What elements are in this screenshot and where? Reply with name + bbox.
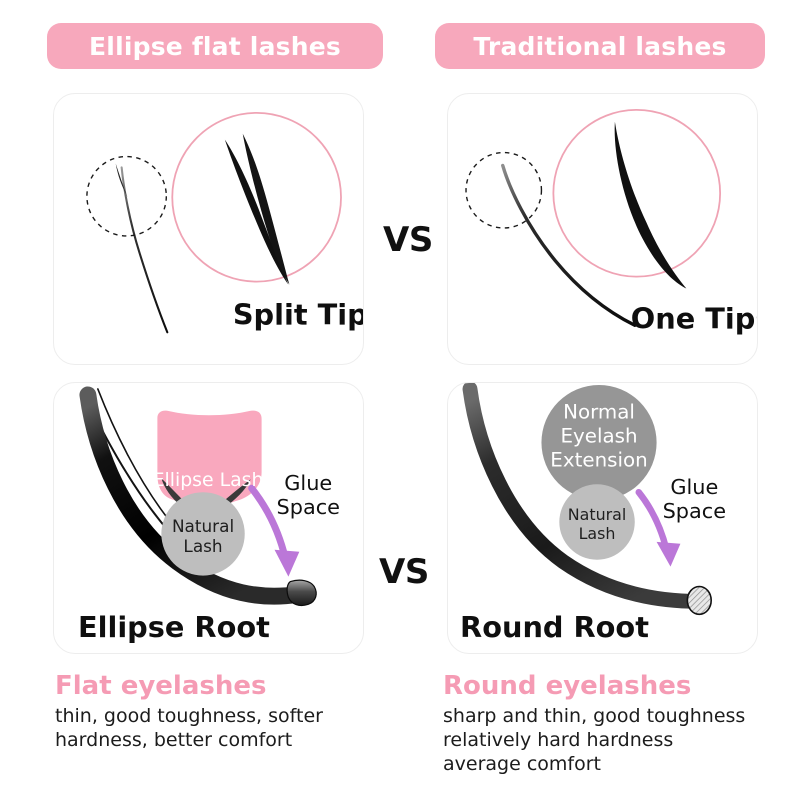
panel-one-tips: One Tips — [447, 93, 758, 365]
label-natural-lash-line2: Lash — [183, 536, 222, 556]
caption-title-round-eyelashes: Round eyelashes — [443, 672, 793, 702]
label-natural-lash-line2: Lash — [579, 524, 616, 543]
panel-round-root: Normal Eyelash Extension Natural Lash Gl… — [447, 382, 758, 654]
caption-title-flat-eyelashes: Flat eyelashes — [55, 672, 425, 702]
panel-title-split-tips: Split Tips — [233, 297, 363, 331]
dashed-circle-magnifier-icon — [466, 153, 541, 228]
single-tip-lash-small — [503, 165, 635, 325]
caption-line: average comfort — [443, 753, 793, 777]
panel-title-one-tips: One Tips — [631, 301, 757, 335]
single-tip-lash-enlarged — [615, 122, 687, 289]
label-extension-line2: Eyelash — [560, 425, 637, 448]
split-tip-lash-enlarged — [225, 134, 290, 285]
header-badge-traditional-lashes: Traditional lashes — [435, 23, 765, 69]
label-glue-space-line1: Glue — [284, 471, 332, 495]
vs-marker-bottom: VS — [379, 552, 429, 592]
caption-body-flat-eyelashes: thin, good toughness, softer hardness, b… — [55, 705, 425, 753]
panel-title-round-root: Round Root — [460, 610, 649, 644]
flat-root-cross-section-icon — [287, 580, 316, 605]
panel-ellipse-root: Ellipse Lash Natural Lash Glue Space Ell… — [53, 382, 364, 654]
pink-zoom-circle-icon — [172, 113, 341, 282]
caption-line: thin, good toughness, softer — [55, 705, 425, 729]
label-natural-lash-line1: Natural — [172, 516, 234, 536]
label-ellipse-lash: Ellipse Lash — [153, 469, 264, 491]
infographic-page: Ellipse flat lashes Traditional lashes — [0, 0, 800, 800]
caption-body-round-eyelashes: sharp and thin, good toughness relativel… — [443, 705, 793, 777]
header-badge-ellipse-flat-lashes: Ellipse flat lashes — [47, 23, 383, 69]
panel-split-tips: Split Tips — [53, 93, 364, 365]
label-extension-line1: Normal — [563, 401, 635, 424]
round-root-cross-section-icon — [687, 586, 711, 614]
caption-line: sharp and thin, good toughness — [443, 705, 793, 729]
label-glue-space-line1: Glue — [670, 475, 718, 499]
label-extension-line3: Extension — [550, 448, 647, 471]
caption-round-eyelashes: Round eyelashes sharp and thin, good tou… — [443, 672, 793, 777]
caption-flat-eyelashes: Flat eyelashes thin, good toughness, sof… — [55, 672, 425, 753]
split-tip-lash-small — [116, 163, 168, 332]
caption-line: hardness, better comfort — [55, 729, 425, 753]
label-glue-space-line2: Space — [663, 499, 726, 523]
panel-title-ellipse-root: Ellipse Root — [78, 610, 270, 644]
caption-line: relatively hard hardness — [443, 729, 793, 753]
vs-marker-top: VS — [383, 220, 433, 260]
label-natural-lash-line1: Natural — [568, 505, 627, 524]
pink-zoom-circle-icon — [553, 110, 720, 277]
label-glue-space-line2: Space — [277, 495, 340, 519]
